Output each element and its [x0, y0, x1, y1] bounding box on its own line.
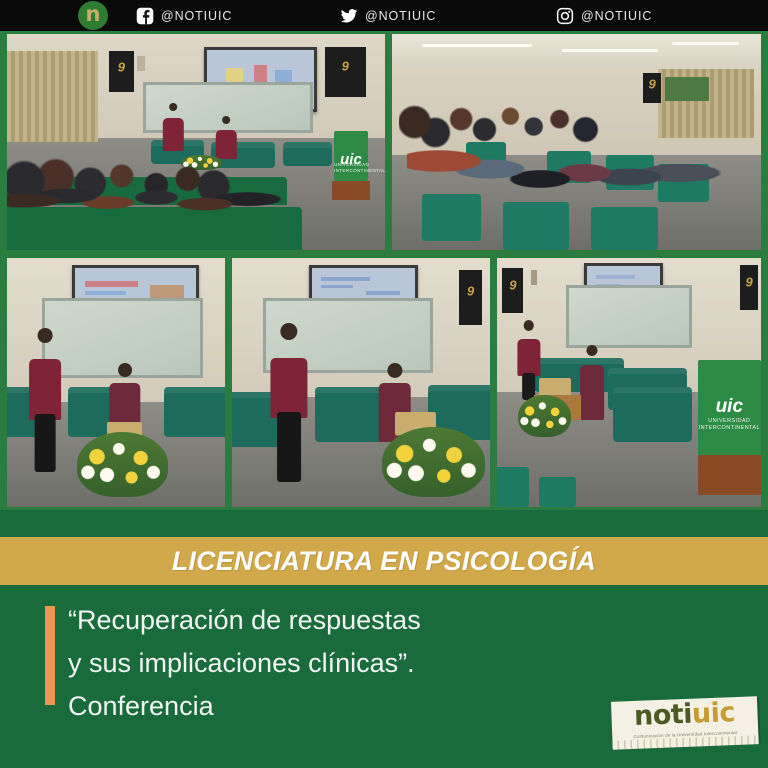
podium-label-university-2: UNIVERSIDAD INTERCONTINENTAL: [698, 418, 761, 432]
degree-title: LICENCIATURA EN PSICOLOGÍA: [172, 546, 596, 577]
instagram-handle-text: @NOTIUIC: [581, 9, 652, 23]
notiuic-mark-icon: n: [78, 1, 108, 30]
quote-line-2: y sus implicaciones clínicas”.: [68, 642, 588, 685]
facebook-handle-text: @NOTIUIC: [161, 9, 232, 23]
podium-label-university: UNIVERSIDAD INTERCONTINENTAL: [334, 162, 368, 173]
podium-label-uic-2: uic: [698, 396, 761, 418]
photo-collage: uic UNIVERSIDAD INTERCONTINENTAL: [0, 31, 768, 510]
twitter-handle-text: @NOTIUIC: [365, 9, 436, 23]
photo-auditorium-audience-wide: uic UNIVERSIDAD INTERCONTINENTAL: [7, 34, 385, 250]
collage-row-bottom: uic UNIVERSIDAD INTERCONTINENTAL: [0, 258, 768, 510]
facebook-icon: [136, 7, 154, 25]
notiuic-wordmark-uic: uic: [691, 697, 735, 730]
quote-line-1: “Recuperación de respuestas: [68, 599, 588, 642]
social-media-topbar: n @NOTIUIC @NOTIUIC @NOTIUIC: [0, 0, 768, 31]
orange-accent-bar: [45, 606, 55, 705]
conference-title-block: “Recuperación de respuestas y sus implic…: [68, 599, 588, 728]
photo-speaker-left: [7, 258, 225, 507]
green-divider-strip: [0, 510, 768, 537]
twitter-icon: [340, 7, 358, 25]
social-handle-facebook[interactable]: @NOTIUIC: [136, 7, 232, 25]
collage-row-top: uic UNIVERSIDAD INTERCONTINENTAL: [0, 31, 768, 253]
notiuic-wordmark-noti: noti: [633, 699, 692, 732]
social-handle-twitter[interactable]: @NOTIUIC: [340, 7, 436, 25]
photo-speaker-center: [232, 258, 490, 507]
notiuic-wordmark: notiuic: [611, 698, 758, 731]
notiuic-logo: notiuic Comunicación de la Universidad I…: [611, 694, 759, 760]
social-handle-instagram[interactable]: @NOTIUIC: [556, 7, 652, 25]
photo-room-overview: uic UNIVERSIDAD INTERCONTINENTAL: [497, 258, 761, 507]
brand-mark-letter: n: [86, 4, 101, 25]
photo-audience-seated: [392, 34, 761, 250]
quote-line-3: Conferencia: [68, 685, 588, 728]
degree-band: LICENCIATURA EN PSICOLOGÍA: [0, 537, 768, 585]
instagram-icon: [556, 7, 574, 25]
social-media-poster: n @NOTIUIC @NOTIUIC @NOTIUIC: [0, 0, 768, 768]
